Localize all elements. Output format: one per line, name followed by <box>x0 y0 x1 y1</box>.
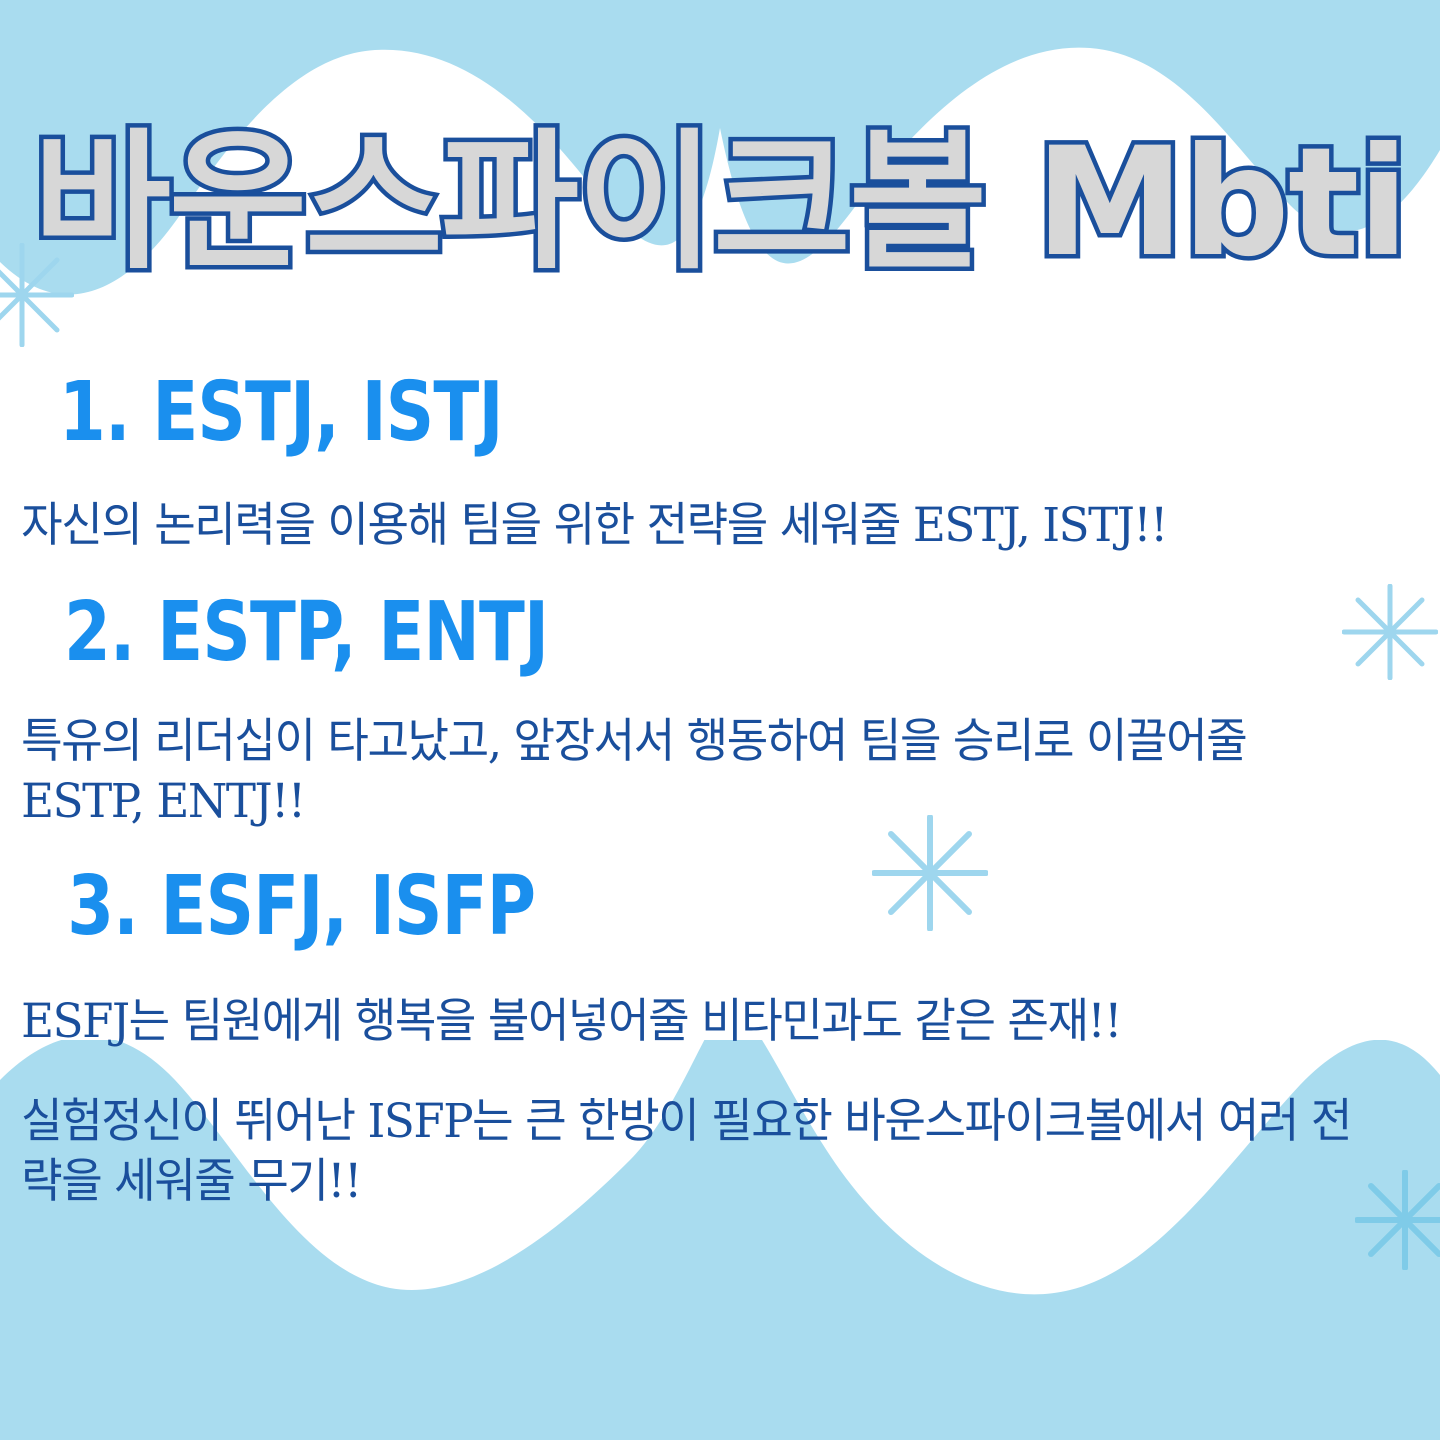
section-2-heading: 2. ESTP, ENTJ <box>0 592 1181 674</box>
section-3-paragraph-2: 실험정신이 뛰어난 ISFP는 큰 한방이 필요한 바운스파이크볼에서 여러 전… <box>0 1092 1382 1212</box>
poster-title-block: 바운스파이크볼 Mbti <box>0 128 1440 278</box>
section-2-paragraph-1: 특유의 리더십이 타고났고, 앞장서서 행동하여 팀을 승리로 이끌어줄 EST… <box>0 712 1382 832</box>
section-3-paragraph-1: ESFJ는 팀원에게 행복을 불어넣어줄 비타민과도 같은 존재!! <box>0 992 1382 1052</box>
section-1-heading: 1. ESTJ, ISTJ <box>0 372 1181 454</box>
page-title: 바운스파이크볼 Mbti <box>33 128 1407 278</box>
section-esfj-isfp: 3. ESFJ, ISFP ESFJ는 팀원에게 행복을 불어넣어줄 비타민과도… <box>0 866 1440 1212</box>
section-estp-entj: 2. ESTP, ENTJ 특유의 리더십이 타고났고, 앞장서서 행동하여 팀… <box>0 592 1440 832</box>
section-1-paragraph-1: 자신의 논리력을 이용해 팀을 위한 전략을 세워줄 ESTJ, ISTJ!! <box>0 496 1382 556</box>
section-3-heading: 3. ESFJ, ISFP <box>0 866 1181 948</box>
section-estj-istj: 1. ESTJ, ISTJ 자신의 논리력을 이용해 팀을 위한 전략을 세워줄… <box>0 372 1440 556</box>
poster-content: 바운스파이크볼 Mbti 1. ESTJ, ISTJ 자신의 논리력을 이용해 … <box>0 0 1440 1440</box>
poster-canvas: 바운스파이크볼 Mbti 1. ESTJ, ISTJ 자신의 논리력을 이용해 … <box>0 0 1440 1440</box>
